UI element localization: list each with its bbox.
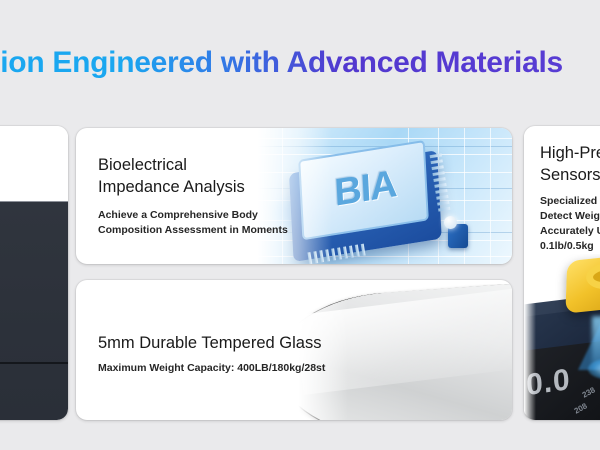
card-right-title-line1: High-Pre — [540, 142, 600, 164]
bia-chip-circuit-board-icon: BIA — [212, 128, 512, 264]
panel-divider — [0, 362, 68, 364]
feature-card-left[interactable]: y een — [0, 126, 68, 420]
card-bia-subtitle-line1: Achieve a Comprehensive Body — [98, 208, 288, 223]
page-headline: Precision Engineered with Advanced Mater… — [0, 44, 600, 84]
headline-text: Precision Engineered with Advanced Mater… — [0, 44, 563, 82]
feature-card-right[interactable]: High-Pre Sensors Specialized S Detect We… — [524, 126, 600, 420]
card-right-title-line2: Sensors — [540, 164, 600, 186]
card-glass-title: 5mm Durable Tempered Glass — [98, 334, 321, 353]
feature-card-bia[interactable]: BIA Bioelectrical Impedance Analysis Ach… — [76, 128, 512, 264]
card-left-header: y een — [0, 126, 68, 200]
card-right-subtitle: Specialized S Detect Weigh Accurately U … — [540, 194, 600, 254]
card-edge-fade — [524, 126, 536, 420]
card-bia-title-line2: Impedance Analysis — [98, 176, 245, 198]
card-bia-subtitle-line2: Composition Assessment in Moments — [98, 223, 288, 238]
card-bia-title: Bioelectrical Impedance Analysis — [98, 154, 245, 198]
feature-card-glass[interactable]: 5mm Durable Tempered Glass Maximum Weigh… — [76, 280, 512, 420]
scale-display-panel-icon — [0, 201, 68, 420]
led-highlight-icon — [444, 216, 457, 229]
card-bia-subtitle: Achieve a Comprehensive Body Composition… — [98, 208, 288, 238]
card-bia-title-line1: Bioelectrical — [98, 154, 245, 176]
card-right-subtitle-line1: Specialized S — [540, 194, 600, 209]
card-right-title: High-Pre Sensors — [540, 142, 600, 186]
card-glass-subtitle: Maximum Weight Capacity: 400LB/180kg/28s… — [98, 362, 325, 374]
card-right-subtitle-line4: 0.1lb/0.5kg — [540, 239, 600, 254]
card-right-subtitle-line2: Detect Weigh — [540, 209, 600, 224]
card-right-subtitle-line3: Accurately U — [540, 224, 600, 239]
